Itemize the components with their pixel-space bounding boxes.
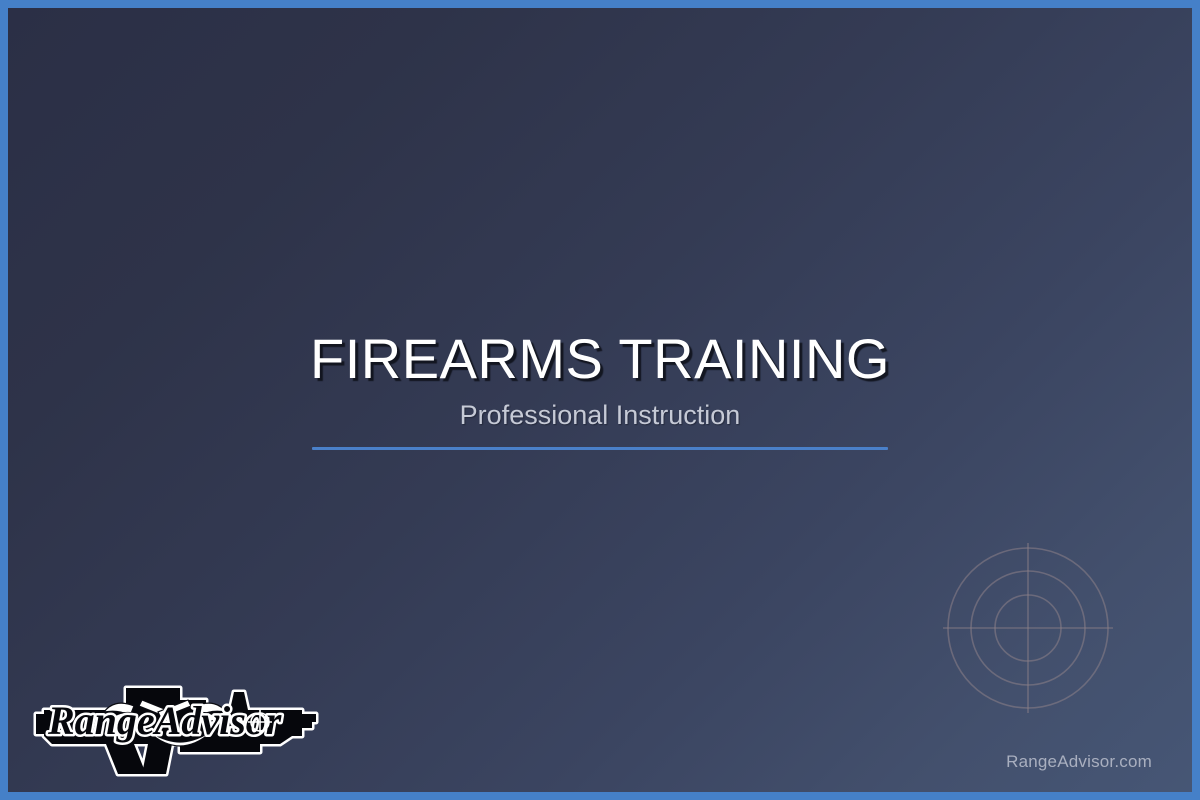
presentation-slide: FIREARMS TRAINING Professional Instructi…	[0, 0, 1200, 800]
page-title: FIREARMS TRAINING	[8, 330, 1192, 389]
crosshair-target-icon	[935, 535, 1121, 721]
title-block: FIREARMS TRAINING Professional Instructi…	[8, 330, 1192, 450]
footer-url: RangeAdvisor.com	[1006, 752, 1152, 772]
slide-canvas: FIREARMS TRAINING Professional Instructi…	[8, 8, 1192, 792]
page-subtitle: Professional Instruction	[8, 401, 1192, 431]
logo-wordmark: RangeAdvisor	[47, 698, 282, 743]
divider-rule	[312, 447, 888, 450]
brand-logo: RangeAdvisor RangeAdvisor	[30, 670, 320, 778]
